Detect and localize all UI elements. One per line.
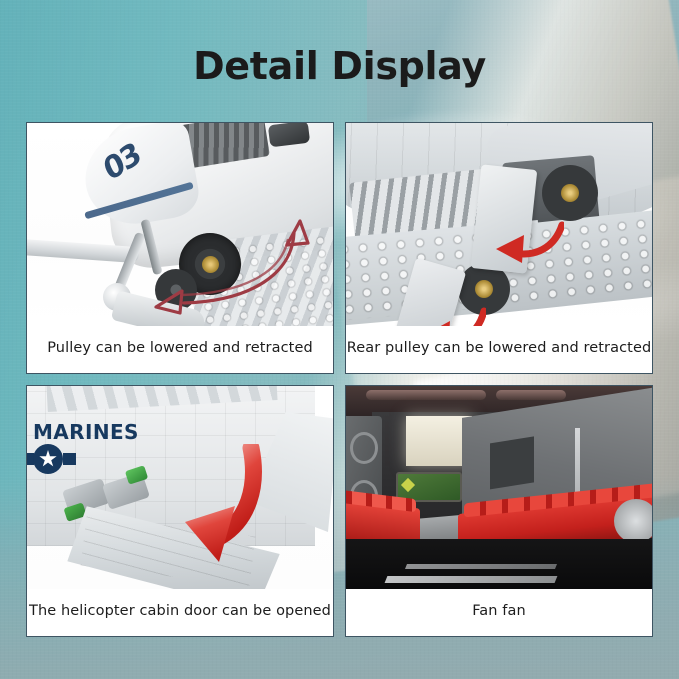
cabin-door-panel-lines	[81, 516, 256, 586]
roundel-bar-left	[27, 453, 34, 465]
panel-image-cabin-door: MARINES	[27, 386, 333, 589]
cabin-ceiling	[346, 386, 652, 420]
rear-wheel-upper	[542, 165, 598, 221]
top-brick-detail	[268, 123, 310, 147]
detail-panel-grid: 03 Pulley can be lowered and retracted	[26, 122, 653, 652]
front-wheel	[179, 233, 241, 295]
cabin-back-wall	[372, 412, 522, 542]
cabin-side-wall	[462, 386, 652, 568]
floor-stripe-1	[385, 576, 558, 583]
floor-stripe-2	[405, 564, 557, 569]
gear-door-upper	[471, 164, 538, 273]
marines-marking: MARINES	[33, 420, 139, 444]
curved-arrow-icon-upper	[494, 219, 564, 263]
rear-wheel-lower	[458, 263, 510, 315]
detail-panel-rear-pulley[interactable]: Rear pulley can be lowered and retracted	[345, 122, 653, 374]
refuel-probe-boom	[27, 239, 139, 263]
panel-caption-fan: Fan fan	[346, 589, 652, 636]
louvre-grille-detail	[349, 167, 505, 244]
fuselage-side-panel	[27, 386, 315, 546]
nose-section-shape	[78, 123, 203, 232]
panel-image-rear-pulley	[346, 123, 652, 326]
porthole-icon-2	[350, 480, 378, 512]
large-curved-arrow-icon	[155, 444, 273, 572]
panel-image-fan	[346, 386, 652, 589]
control-panel-screen	[396, 472, 462, 502]
ceiling-pipe-1	[366, 390, 486, 400]
landing-gear-strut	[110, 232, 145, 301]
curved-arrow-icon-lower	[422, 307, 486, 326]
gear-door-lower	[390, 258, 466, 326]
stud-plate-left	[346, 220, 545, 326]
roundel-bar-right	[63, 453, 76, 465]
cabin-door-open	[64, 496, 284, 589]
red-bench-left	[346, 497, 420, 550]
us-roundel-insignia	[33, 444, 63, 474]
detail-panel-cabin-door[interactable]: MARINES	[26, 385, 334, 637]
red-bench-right	[458, 492, 652, 558]
fuselage-underside	[346, 123, 652, 231]
green-accent-brick-1	[62, 478, 110, 516]
gear-pivot-joint	[103, 283, 131, 311]
bulkhead-middle	[464, 420, 508, 546]
engine-vent-detail	[174, 123, 270, 170]
panel-image-front-pulley: 03	[27, 123, 333, 326]
stud-plate-right	[474, 209, 652, 314]
page-title: Detail Display	[0, 44, 679, 88]
panel-caption-rear-pulley: Rear pulley can be lowered and retracted	[346, 326, 652, 373]
cabin-interior-room	[346, 386, 652, 589]
wheel-glow-detail	[614, 499, 652, 543]
stud-ramp-plate	[186, 226, 333, 326]
wing-section	[482, 123, 652, 225]
fuselage-shape	[100, 123, 333, 272]
cabin-floor	[346, 539, 652, 589]
detail-display-page: Detail Display 03	[0, 0, 679, 679]
nose-stripe-decal	[84, 182, 194, 220]
cabin-vertical-rail	[575, 428, 580, 540]
tail-fin-section	[247, 412, 333, 532]
gear-bay-opening	[502, 155, 602, 255]
detail-panel-fan[interactable]: Fan fan	[345, 385, 653, 637]
front-wheel-secondary	[155, 269, 197, 311]
aircraft-number-marking: 03	[99, 136, 145, 188]
star-icon	[39, 450, 57, 468]
porthole-icon-3	[472, 436, 500, 468]
porthole-icon-1	[350, 432, 378, 464]
landing-gear-strut-secondary	[140, 219, 162, 276]
gear-skid-plate	[111, 290, 208, 326]
green-accent-brick-2	[102, 472, 150, 510]
fuselage-top-edge	[46, 386, 277, 412]
cockpit-light-opening	[406, 416, 472, 466]
bulkhead-left	[346, 416, 382, 536]
ceiling-pipe-2	[496, 390, 566, 400]
panel-caption-cabin-door: The helicopter cabin door can be opened	[27, 589, 333, 636]
detail-panel-front-pulley[interactable]: 03 Pulley can be lowered and retracted	[26, 122, 334, 374]
cabin-floor-plate	[396, 509, 526, 546]
porthole-icon-4	[472, 482, 500, 514]
double-headed-arrow-icon	[142, 215, 317, 320]
panel-caption-front-pulley: Pulley can be lowered and retracted	[27, 326, 333, 373]
